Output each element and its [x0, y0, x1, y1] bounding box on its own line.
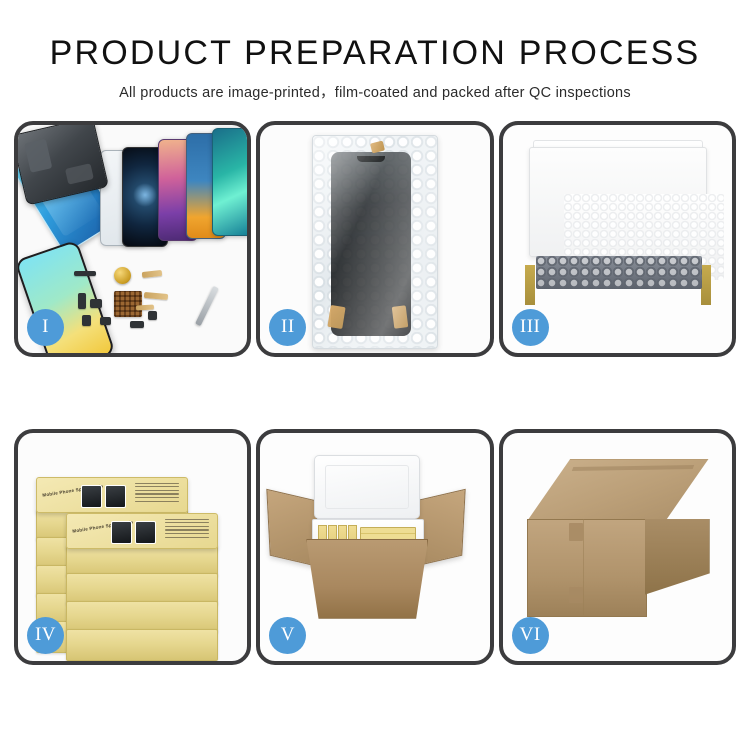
retail-box-thumbnails-back [81, 485, 127, 506]
screwdriver-tool [195, 285, 219, 325]
spare-part-shield [130, 321, 144, 328]
phone-teal-gradient [212, 128, 247, 236]
page-title: PRODUCT PREPARATION PROCESS [0, 36, 750, 72]
flex-cable-bottom [136, 304, 154, 310]
step-badge-2: II [269, 309, 306, 346]
carton-front-seam [583, 519, 584, 615]
vibration-motor-part [114, 267, 131, 284]
spare-part-bracket [100, 317, 111, 325]
retail-box-top-back: Mobile Phone Spare Parts [36, 477, 188, 513]
spare-part-camera [78, 293, 86, 309]
retail-box-front-4 [66, 545, 218, 577]
retail-box-front-1 [66, 629, 218, 661]
box-thumb-image-2 [105, 485, 126, 508]
spare-part-button [82, 315, 91, 326]
kraft-box-flap-left [525, 265, 535, 305]
carton-tape-lower [569, 587, 583, 603]
logic-board-chip [114, 291, 142, 317]
bubble-wrap-bag [312, 135, 438, 349]
shipping-carton-body [306, 539, 428, 619]
retail-box-stack: Mobile Phone Spare Parts [32, 451, 232, 651]
retail-box-spec-lines-front [165, 519, 209, 540]
retail-box-front-2 [66, 601, 218, 633]
carton-side-face [645, 519, 710, 595]
carton-top-seam [571, 465, 693, 471]
flex-cable-top [142, 270, 163, 278]
step-badge-1: I [27, 309, 64, 346]
retail-box-top-front: Mobile Phone Spare Parts [66, 513, 218, 549]
retail-box-spec-lines-back [135, 483, 179, 504]
process-steps-grid: I II [7, 121, 743, 665]
foam-box-lid [314, 455, 420, 519]
carton-top-face [527, 459, 709, 522]
carton-front-face [527, 519, 647, 617]
step-badge-5: V [269, 617, 306, 654]
spare-part-speaker [90, 299, 102, 308]
product-preparation-infographic: PRODUCT PREPARATION PROCESS All products… [0, 0, 750, 750]
box-thumb-image-4 [135, 521, 156, 544]
step-panel-3: III [499, 121, 736, 357]
flex-cable-mid [144, 292, 168, 300]
box-thumb-image-3 [111, 521, 132, 544]
sealed-carton [527, 459, 709, 619]
retail-box-front-3 [66, 573, 218, 605]
retail-box-thumbnails-front [111, 521, 157, 542]
step-panel-4: Mobile Phone Spare Parts [14, 429, 251, 665]
spare-part-connector [74, 271, 96, 276]
carton-tape-upper [569, 523, 583, 541]
box-thumb-image-1 [81, 485, 102, 508]
kraft-box-flap-right [701, 265, 711, 305]
step-badge-4: IV [27, 617, 64, 654]
step-badge-3: III [512, 309, 549, 346]
step-panel-6: VI [499, 429, 736, 665]
spare-part-sensor [148, 311, 157, 320]
page-subtitle: All products are image-printed，film-coat… [0, 81, 750, 102]
bubble-wrapped-contents [536, 256, 702, 289]
step-panel-1: I [14, 121, 251, 357]
step-badge-6: VI [512, 617, 549, 654]
header: PRODUCT PREPARATION PROCESS All products… [0, 0, 750, 102]
step-panel-5: V [256, 429, 493, 665]
foam-sheet-panel [529, 147, 707, 257]
step-panel-2: II [256, 121, 493, 357]
